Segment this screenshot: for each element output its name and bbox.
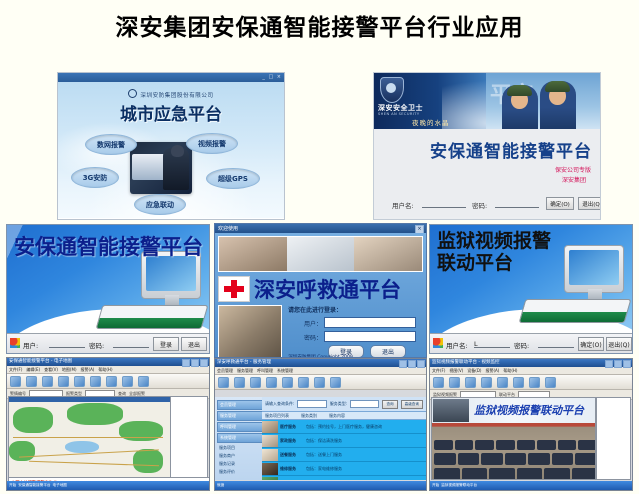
username-label: 用户： bbox=[304, 319, 322, 328]
map-green-area bbox=[133, 449, 163, 473]
username-input[interactable] bbox=[324, 317, 416, 328]
taskbar-item-prison-video[interactable]: 监狱视频报警联动平台 bbox=[441, 483, 477, 488]
window-controls[interactable] bbox=[605, 360, 631, 368]
company-seal-icon bbox=[128, 89, 137, 98]
nav-section-service[interactable]: 服务管理 bbox=[217, 411, 263, 421]
zoom-in-icon[interactable] bbox=[42, 376, 53, 387]
company-line: 深圳安防集团股份有限公司 bbox=[58, 89, 284, 99]
inmate-rows bbox=[432, 440, 595, 479]
table-row[interactable]: 维修服务 包括：家电维修服务 bbox=[262, 462, 426, 476]
stop-icon[interactable] bbox=[449, 377, 460, 388]
table-row[interactable]: 生活缴费 包括：代缴水电煤气费用，电话费代缴服务 bbox=[262, 476, 426, 480]
column-header-category: 服务类别 bbox=[301, 413, 317, 419]
row-thumbnail bbox=[262, 449, 278, 461]
monitor-screen bbox=[146, 256, 196, 291]
play-icon[interactable] bbox=[433, 377, 444, 388]
password-label: 密码: bbox=[514, 340, 529, 350]
officer-head-shape bbox=[171, 145, 184, 157]
photo-nurses bbox=[287, 237, 355, 271]
ptz-icon[interactable] bbox=[497, 377, 508, 388]
window-title: 欢迎使用 bbox=[218, 225, 238, 232]
banner-thumbnail bbox=[433, 399, 469, 422]
menu-bar[interactable]: 会员管理 服务管理 呼叫管理 系统管理 bbox=[215, 367, 426, 375]
print-icon[interactable] bbox=[314, 377, 325, 388]
screenshot-prison-splash[interactable]: 监狱视频报警 联动平台 用户名: L 密码: 确定(O) 退出(Q) bbox=[429, 224, 633, 354]
map-green-area bbox=[13, 407, 53, 433]
police-photo bbox=[130, 142, 192, 194]
password-input[interactable] bbox=[495, 199, 539, 208]
map-road bbox=[13, 437, 163, 438]
red-cross-icon bbox=[218, 276, 250, 302]
keyboard-graphic bbox=[96, 305, 209, 329]
platform-heading: 安保通智能接警平台 bbox=[14, 231, 203, 261]
guard-left-shape bbox=[502, 85, 538, 129]
locate-icon[interactable] bbox=[106, 376, 117, 387]
screenshot-service-list-app[interactable]: 深安呼救通平台 - 服务管理 会员管理 服务管理 呼叫管理 系统管理 会员管理 … bbox=[214, 358, 427, 491]
login-bar: 用户名: L 密码: 确定(O) 退出(Q) bbox=[430, 333, 632, 353]
nav-item-service-project[interactable]: 服务项目 bbox=[217, 444, 263, 452]
map-green-area bbox=[67, 403, 123, 425]
monitor-graphic bbox=[564, 245, 624, 293]
family-photo bbox=[218, 305, 282, 358]
password-input[interactable] bbox=[113, 339, 149, 348]
shield-logo-icon bbox=[380, 77, 404, 103]
monitor-stand bbox=[588, 289, 602, 299]
menu-bar[interactable]: 文件(F) 编辑(E) 查看(V) 地图(M) 报警(A) 帮助(H) bbox=[7, 366, 209, 374]
open-icon[interactable] bbox=[10, 376, 21, 387]
menu-item-alarm[interactable]: 报警(A) bbox=[485, 368, 499, 374]
service-type-input[interactable] bbox=[350, 400, 379, 408]
toolbar[interactable] bbox=[7, 374, 209, 389]
username-field-underline[interactable] bbox=[474, 339, 510, 348]
site-banner: 平安 深安安全卫士 SHEN AN SECURITY 夜晚的水晶 bbox=[374, 73, 600, 129]
password-label: 密码: bbox=[472, 200, 487, 210]
bubble-3g-anfang[interactable]: 3G安防 bbox=[71, 167, 119, 188]
row-thumbnail bbox=[262, 435, 278, 447]
guard-helmet-shape bbox=[545, 81, 570, 92]
service-icon[interactable] bbox=[234, 377, 245, 388]
ok-button[interactable]: 确定(O) bbox=[546, 197, 574, 210]
start-button[interactable]: 开始 bbox=[9, 483, 16, 488]
list-header: 服务项目列表 服务类别 服务内容 bbox=[262, 412, 426, 420]
nav-section-call[interactable]: 呼叫管理 bbox=[217, 422, 263, 432]
window-controls[interactable] bbox=[399, 360, 425, 368]
row-thumbnail bbox=[262, 463, 278, 475]
print-icon[interactable] bbox=[122, 376, 133, 387]
platform-heading: 深安呼救通平台 bbox=[254, 274, 401, 304]
heading-line-1: 监狱视频报警 bbox=[437, 230, 551, 252]
window-title: 监狱视频报警联动平台 - 视频监控 bbox=[432, 360, 499, 365]
search-input[interactable] bbox=[297, 400, 326, 408]
brand-row: 深安呼救通平台 bbox=[218, 275, 423, 303]
search-label-2: 服务类型: bbox=[330, 401, 347, 407]
login-button[interactable]: 登录 bbox=[153, 337, 179, 351]
menu-item-view[interactable]: 查看(V) bbox=[44, 367, 58, 373]
heading-line-2: 联动平台 bbox=[437, 252, 551, 274]
search-label: 请输入查询条件: bbox=[265, 401, 294, 407]
minimize-icon bbox=[182, 359, 190, 367]
settings-icon[interactable] bbox=[529, 377, 540, 388]
map-water-area bbox=[65, 441, 99, 453]
menu-item-file[interactable]: 文件(F) bbox=[432, 368, 445, 374]
prison-yard-photo bbox=[432, 423, 595, 479]
member-icon[interactable] bbox=[218, 377, 229, 388]
screenshot-hujiutong-login[interactable]: 欢迎使用 × 深安呼救通平台 请您在此进行登录： 用户： 密码： 登录 退出 bbox=[214, 223, 427, 358]
password-label: 密码： bbox=[304, 333, 322, 342]
settings-icon[interactable] bbox=[282, 377, 293, 388]
platform-heading: 城市应急平台 bbox=[58, 100, 284, 125]
close-icon bbox=[200, 359, 208, 367]
minimize-icon bbox=[605, 360, 613, 368]
map-canvas[interactable] bbox=[8, 396, 172, 478]
advanced-search-button[interactable]: 高级查询 bbox=[401, 400, 423, 409]
row-thumbnail bbox=[262, 477, 278, 481]
password-label: 密码: bbox=[89, 340, 104, 350]
map-green-area bbox=[119, 421, 163, 441]
row-text: 包括：送餐上门服务 bbox=[306, 452, 426, 458]
screenshot-anbaotong-web-login[interactable]: 平安 深安安全卫士 SHEN AN SECURITY 夜晚的水晶 安保通智能接警… bbox=[373, 72, 601, 220]
pan-icon[interactable] bbox=[74, 376, 85, 387]
login-form: 请您在此进行登录： 用户： 密码： 登录 退出 深圳安防集团 Copyright… bbox=[218, 305, 423, 358]
login-bar: 用户: 密码: 登录 退出 bbox=[7, 333, 209, 353]
toolbar[interactable] bbox=[215, 375, 426, 390]
page-title: 深安集团安保通智能接警平台行业应用 bbox=[0, 8, 639, 42]
flower-icon bbox=[10, 338, 20, 348]
banner-slogan: 夜晚的水晶 bbox=[412, 117, 450, 127]
keyboard-graphic bbox=[519, 299, 632, 323]
menu-item-member[interactable]: 会员管理 bbox=[217, 368, 233, 374]
taskbar[interactable]: 开始 安保通智能接警平台 电子地图 bbox=[7, 481, 210, 490]
banner-title: 监狱视频报警联动平台 bbox=[474, 402, 584, 418]
menu-item-map[interactable]: 地图(M) bbox=[62, 367, 77, 373]
row-category: 生活缴费 bbox=[280, 480, 306, 481]
taskbar[interactable]: 开始 监狱视频报警联动平台 bbox=[430, 481, 633, 490]
vehicle-shape bbox=[132, 154, 166, 180]
table-row[interactable]: 家政服务 包括：保洁清洗服务 bbox=[262, 434, 426, 448]
taskbar-item-map[interactable]: 电子地图 bbox=[53, 483, 67, 488]
username-input[interactable] bbox=[422, 199, 466, 208]
toolbar[interactable] bbox=[430, 375, 632, 390]
save-icon[interactable] bbox=[26, 376, 37, 387]
row-category: 医疗服务 bbox=[280, 424, 306, 430]
menu-item-alarm[interactable]: 报警(A) bbox=[81, 367, 95, 373]
video-side-panel[interactable] bbox=[596, 397, 631, 480]
map-side-panel[interactable] bbox=[170, 396, 208, 478]
poster-root: 深安集团安保通智能接警平台行业应用 _ □ × 深圳安防集团股份有限公司 城市应… bbox=[0, 0, 639, 494]
map-green-area bbox=[9, 441, 35, 461]
call-icon[interactable] bbox=[250, 377, 261, 388]
record-icon[interactable] bbox=[465, 377, 476, 388]
nav-item-service-record[interactable]: 服务记录 bbox=[217, 460, 263, 468]
left-navigation[interactable]: 会员管理 服务管理 呼叫管理 系统管理 服务项目 服务商户 服务记录 服务评价 … bbox=[215, 397, 266, 480]
guards-photo: 平安 bbox=[486, 73, 600, 129]
inmate-row bbox=[432, 440, 596, 450]
password-input[interactable] bbox=[324, 331, 416, 342]
nav-item-service-rating[interactable]: 服务评价 bbox=[217, 468, 263, 476]
menu-item-call[interactable]: 呼叫管理 bbox=[257, 368, 273, 374]
flower-icon bbox=[433, 338, 443, 348]
maximize-icon bbox=[614, 360, 622, 368]
menu-item-help[interactable]: 帮助(H) bbox=[503, 368, 517, 374]
report-icon[interactable] bbox=[266, 377, 277, 388]
zoom-out-icon[interactable] bbox=[58, 376, 69, 387]
video-stage[interactable]: 监狱视频报警联动平台 bbox=[431, 397, 596, 480]
photo-strip bbox=[218, 236, 423, 272]
window-titlebar: 深安呼救通平台 - 服务管理 bbox=[215, 359, 426, 367]
bubble-yingji-liandong[interactable]: 应急联动 bbox=[134, 194, 186, 215]
inmate-row bbox=[432, 468, 596, 480]
platform-heading: 监狱视频报警 联动平台 bbox=[437, 230, 551, 274]
close-icon bbox=[623, 360, 631, 368]
nav-section-member[interactable]: 会员管理 bbox=[217, 400, 263, 410]
minimize-icon bbox=[399, 360, 407, 368]
content-area: 请输入查询条件: 服务类型: 查询 高级查询 服务项目列表 服务类别 服务内容 … bbox=[262, 397, 426, 480]
photo-elderly-care bbox=[354, 237, 422, 271]
list-header-title: 服务项目列表 bbox=[265, 413, 289, 419]
username-label: 用户名: bbox=[392, 200, 414, 210]
dialog-body: 深安呼救通平台 请您在此进行登录： 用户： 密码： 登录 退出 深圳安防集团 C… bbox=[215, 233, 426, 358]
edition-note: 保安公司专版 bbox=[555, 165, 591, 174]
guard-right-shape bbox=[540, 81, 576, 129]
exit-icon[interactable] bbox=[330, 377, 341, 388]
status-text: 就绪 bbox=[217, 483, 224, 488]
maximize-icon bbox=[191, 359, 199, 367]
column-header-content: 服务内容 bbox=[329, 413, 345, 419]
exit-icon[interactable] bbox=[545, 377, 556, 388]
video-banner: 监狱视频报警联动平台 bbox=[432, 398, 595, 423]
nav-item-service-merchant[interactable]: 服务商户 bbox=[217, 452, 263, 460]
menu-item-service[interactable]: 服务管理 bbox=[237, 368, 253, 374]
window-titlebar: 欢迎使用 × bbox=[215, 224, 426, 233]
exit-button[interactable]: 退出 bbox=[181, 337, 207, 351]
row-text: 包括：保洁清洗服务 bbox=[306, 438, 426, 444]
username-label: 用户名: bbox=[446, 340, 468, 350]
bubble-shipin-baojing[interactable]: 视频报警 bbox=[186, 133, 238, 154]
nav-section-system[interactable]: 系统管理 bbox=[217, 433, 263, 443]
monitor-stand bbox=[165, 295, 179, 305]
row-text: 包括：预约挂号，上门医疗服务，健康咨询 bbox=[306, 424, 426, 430]
refresh-icon[interactable] bbox=[298, 377, 309, 388]
login-hint: 请您在此进行登录： bbox=[288, 305, 342, 314]
alarm-icon[interactable] bbox=[513, 377, 524, 388]
window-titlebar: 安保通智能接警平台 - 电子地图 bbox=[7, 358, 209, 366]
table-row[interactable]: 送餐服务 包括：送餐上门服务 bbox=[262, 448, 426, 462]
menu-item-device[interactable]: 设备(D) bbox=[467, 368, 481, 374]
splash-body: 深圳安防集团股份有限公司 城市应急平台 数网报警 视频报警 3G安防 超级GPS… bbox=[58, 82, 284, 218]
photo-family-pointing bbox=[219, 237, 287, 271]
window-titlebar: 监狱视频报警联动平台 - 视频监控 bbox=[430, 359, 632, 367]
logo-subtext: SHEN AN SECURITY bbox=[378, 112, 419, 116]
row-category: 家政服务 bbox=[280, 438, 306, 444]
menu-item-system[interactable]: 系统管理 bbox=[277, 368, 293, 374]
guard-helmet-shape bbox=[507, 85, 532, 96]
screenshot-prison-video-app[interactable]: 监狱视频报警联动平台 - 视频监控 文件(F) 视图(V) 设备(D) 报警(A… bbox=[429, 358, 633, 491]
screenshot-anbaotong-splash[interactable]: 安保通智能接警平台 用户: 密码: 登录 退出 bbox=[6, 224, 210, 354]
map-header-strip bbox=[9, 397, 171, 402]
start-button[interactable]: 开始 bbox=[432, 483, 439, 488]
company-name: 深圳安防集团股份有限公司 bbox=[140, 93, 213, 99]
window-titlebar: _ □ × bbox=[58, 73, 284, 82]
ok-button[interactable]: 确定(O) bbox=[578, 337, 604, 351]
login-area: 安保通智能接警平台 保安公司专版 深安集团 用户名: 密码: 确定(O) 退出(… bbox=[374, 129, 600, 217]
row-text: 包括：代缴水电煤气费用，电话费代缴服务 bbox=[306, 480, 426, 481]
exit-button[interactable]: 退出(Q) bbox=[578, 197, 601, 210]
window-title: 深安呼救通平台 - 服务管理 bbox=[217, 360, 271, 365]
menu-item-edit[interactable]: 编辑(E) bbox=[26, 367, 40, 373]
bubble-shuwang-baojing[interactable]: 数网报警 bbox=[85, 134, 137, 155]
row-text: 包括：家电维修服务 bbox=[306, 466, 426, 472]
menu-item-view[interactable]: 视图(V) bbox=[449, 368, 463, 374]
maximize-icon bbox=[408, 360, 416, 368]
alarm-icon[interactable] bbox=[138, 376, 149, 387]
row-category: 维修服务 bbox=[280, 466, 306, 472]
snapshot-icon[interactable] bbox=[481, 377, 492, 388]
screenshot-gis-map-app[interactable]: 安保通智能接警平台 - 电子地图 文件(F) 编辑(E) 查看(V) 地图(M)… bbox=[6, 357, 210, 491]
taskbar[interactable]: 就绪 bbox=[215, 481, 427, 490]
login-row: 用户名: 密码: 确定(O) 退出(Q) bbox=[374, 197, 600, 211]
username-label: 用户: bbox=[23, 340, 38, 350]
menu-item-help[interactable]: 帮助(H) bbox=[98, 367, 112, 373]
measure-icon[interactable] bbox=[90, 376, 101, 387]
menu-bar[interactable]: 文件(F) 视图(V) 设备(D) 报警(A) 帮助(H) bbox=[430, 367, 632, 375]
password-input[interactable] bbox=[538, 339, 574, 348]
group-note: 深安集团 bbox=[562, 175, 586, 184]
table-row[interactable]: 医疗服务 包括：预约挂号，上门医疗服务，健康咨询 bbox=[262, 420, 426, 434]
monitor-screen bbox=[569, 250, 619, 285]
search-button[interactable]: 查询 bbox=[382, 400, 397, 409]
bubble-chaoji-gps[interactable]: 超级GPS bbox=[206, 168, 260, 189]
window-controls[interactable]: _ □ × bbox=[262, 74, 282, 80]
screenshot-city-emergency-platform[interactable]: _ □ × 深圳安防集团股份有限公司 城市应急平台 数网报警 视频报警 3G安防… bbox=[57, 72, 285, 220]
window-title: 安保通智能接警平台 - 电子地图 bbox=[9, 359, 72, 364]
exit-button[interactable]: 退出(Q) bbox=[606, 337, 632, 351]
platform-heading: 安保通智能接警平台 bbox=[430, 137, 592, 162]
taskbar-item-anbaotong[interactable]: 安保通智能接警平台 bbox=[18, 483, 50, 488]
inmate-row bbox=[432, 453, 596, 465]
row-category: 送餐服务 bbox=[280, 452, 306, 458]
username-input[interactable] bbox=[49, 339, 85, 348]
window-controls[interactable] bbox=[182, 359, 208, 367]
menu-item-file[interactable]: 文件(F) bbox=[9, 367, 22, 373]
row-thumbnail bbox=[262, 421, 278, 433]
close-icon bbox=[417, 360, 425, 368]
search-bar[interactable]: 请输入查询条件: 服务类型: 查询 高级查询 bbox=[262, 397, 426, 412]
